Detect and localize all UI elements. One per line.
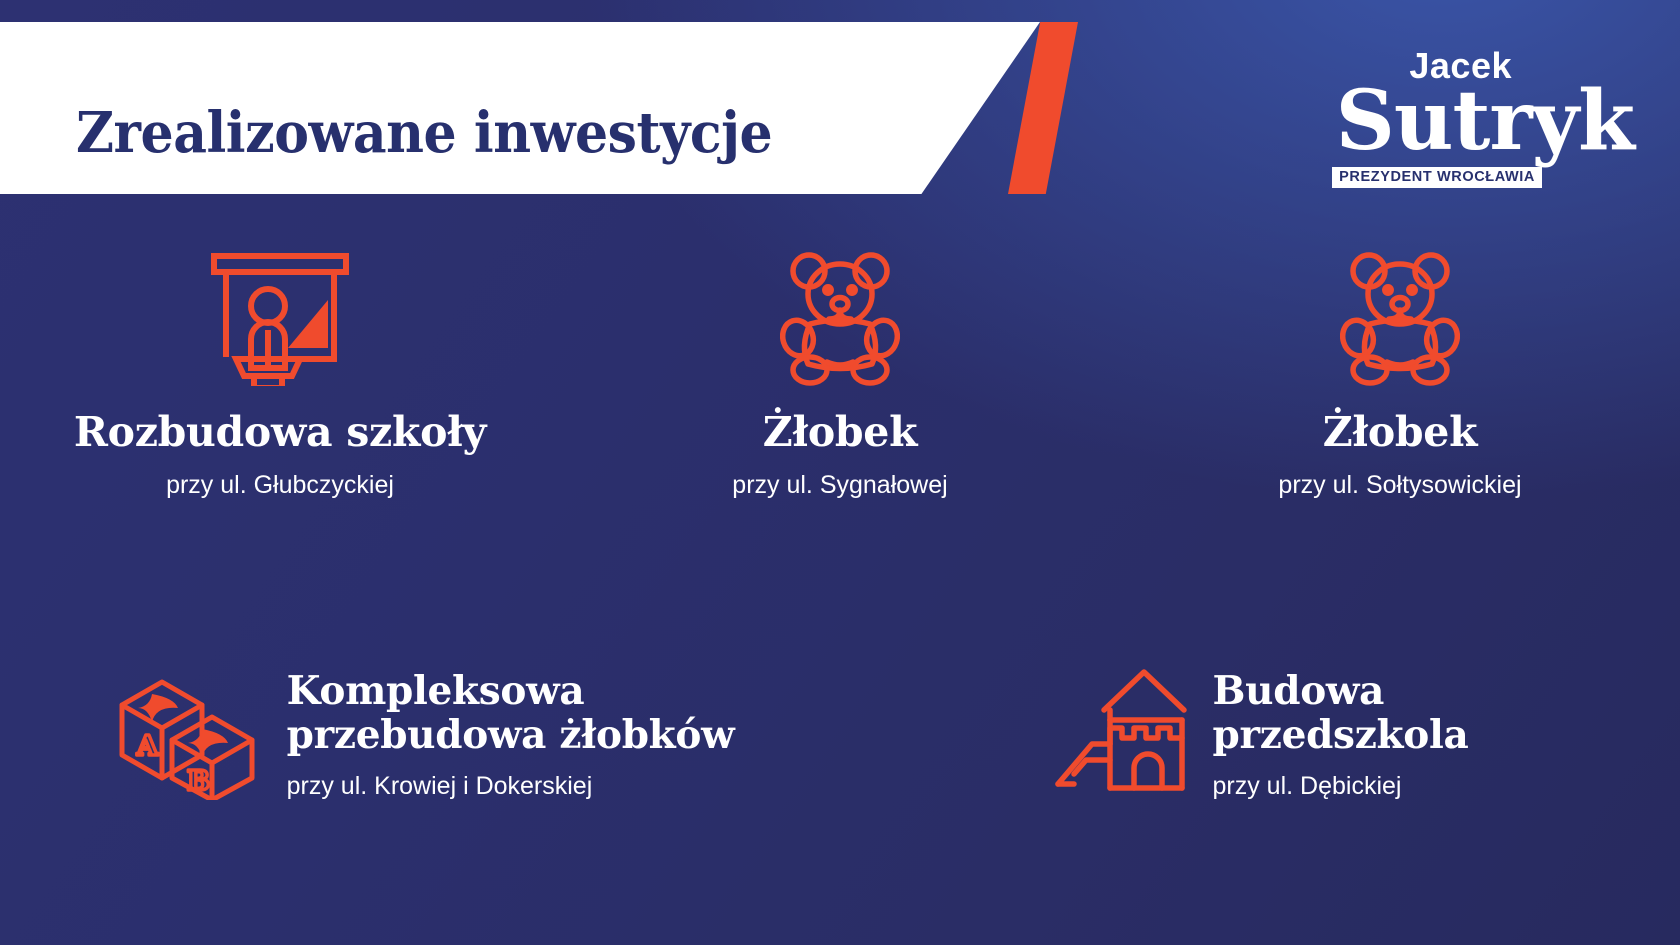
campaign-logo: Jacek Sutryk PREZYDENT WROCŁAWIA [1214, 48, 1634, 188]
investment-card-nursery-sygnalowa: Żłobek przy ul. Sygnałowej [560, 236, 1120, 500]
header-banner: Zrealizowane inwestycje [0, 22, 1075, 194]
card-title: Rozbudowa szkoły [74, 410, 486, 454]
logo-last-name: Sutryk [1214, 82, 1634, 161]
playground-tower-icon [1052, 660, 1187, 800]
investment-card-nursery-rebuild: A B Kompleksowa przebudowa żłobków przy … [0, 660, 840, 801]
logo-tagline: PREZYDENT WROCŁAWIA [1332, 167, 1542, 188]
presentation-screen-icon [200, 236, 360, 386]
teddy-bear-icon [780, 236, 900, 386]
card-subtitle: przy ul. Głubczyckiej [166, 470, 394, 500]
card-subtitle: przy ul. Sołtysowickiej [1278, 470, 1521, 500]
page-title: Zrealizowane inwestycje [76, 100, 772, 166]
card-subtitle: przy ul. Sygnałowej [732, 470, 947, 500]
slide-canvas: Zrealizowane inwestycje Jacek Sutryk PRE… [0, 0, 1680, 945]
teddy-bear-icon [1340, 236, 1460, 386]
abc-blocks-icon: A B [106, 660, 261, 800]
investment-card-school: Rozbudowa szkoły przy ul. Głubczyckiej [0, 236, 560, 500]
card-title: Kompleksowa przebudowa żłobków [287, 670, 735, 757]
block-letter-b: B [187, 766, 210, 797]
card-title: Budowa przedszkola [1213, 670, 1469, 757]
investment-card-nursery-soltysowicka: Żłobek przy ul. Sołtysowickiej [1120, 236, 1680, 500]
card-subtitle: przy ul. Krowiej i Dokerskiej [287, 771, 735, 801]
card-subtitle: przy ul. Dębickiej [1213, 771, 1469, 801]
investment-card-kindergarten: Budowa przedszkola przy ul. Dębickiej [840, 660, 1680, 801]
card-text-block: Kompleksowa przebudowa żłobków przy ul. … [287, 660, 735, 801]
card-title: Żłobek [763, 410, 917, 454]
card-title: Żłobek [1323, 410, 1477, 454]
investments-row-bottom: A B Kompleksowa przebudowa żłobków przy … [0, 660, 1680, 801]
investments-row-top: Rozbudowa szkoły przy ul. Głubczyckiej [0, 236, 1680, 500]
block-letter-a: A [136, 731, 159, 762]
card-text-block: Budowa przedszkola przy ul. Dębickiej [1213, 660, 1469, 801]
